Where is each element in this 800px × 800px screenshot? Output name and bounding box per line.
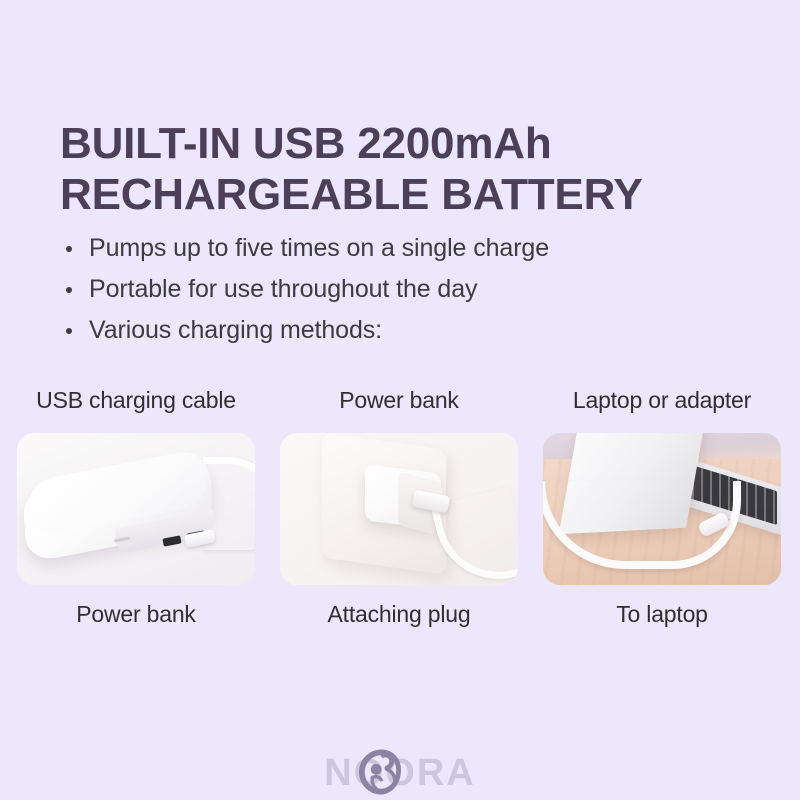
column-header: Laptop or adapter — [573, 383, 751, 417]
list-item-label: Portable for use throughout the day — [89, 275, 477, 303]
list-item: Various charging methods: — [62, 310, 762, 351]
bullet-dot-icon — [66, 287, 72, 293]
logo-wrap: N O ORA — [324, 749, 475, 797]
column-caption: Power bank — [76, 599, 195, 629]
list-item: Pumps up to five times on a single charg… — [62, 228, 762, 269]
list-item: Portable for use throughout the day — [62, 269, 762, 310]
product-infographic-page: BUILT-IN USB 2200mAh RECHARGEABLE BATTER… — [0, 0, 800, 800]
bullet-dot-icon — [66, 328, 72, 334]
column-header: USB charging cable — [36, 383, 236, 417]
page-title: BUILT-IN USB 2200mAh RECHARGEABLE BATTER… — [60, 118, 760, 220]
column-caption: To laptop — [616, 599, 708, 629]
feature-list: Pumps up to five times on a single charg… — [62, 228, 762, 351]
charging-methods-row: USB charging cable Power bank Power bank — [17, 383, 783, 629]
bullet-dot-icon — [66, 246, 72, 252]
charging-method-column-2: Power bank Attaching plug — [280, 383, 518, 629]
mother-and-baby-icon — [356, 747, 406, 797]
charging-method-column-3: Laptop or adapter To laptop — [543, 383, 781, 629]
column-caption: Attaching plug — [328, 599, 471, 629]
logo-text-before: N — [324, 752, 353, 795]
wall-adapter-photo — [280, 433, 518, 585]
list-item-label: Pumps up to five times on a single charg… — [89, 234, 549, 262]
column-header: Power bank — [339, 383, 458, 417]
list-item-label: Various charging methods: — [89, 316, 382, 344]
power-bank-photo — [17, 433, 255, 585]
charging-method-column-1: USB charging cable Power bank — [17, 383, 255, 629]
usb-port-icon — [162, 535, 181, 546]
brand-logo: N O ORA — [0, 749, 800, 797]
laptop-charging-photo — [543, 433, 781, 585]
